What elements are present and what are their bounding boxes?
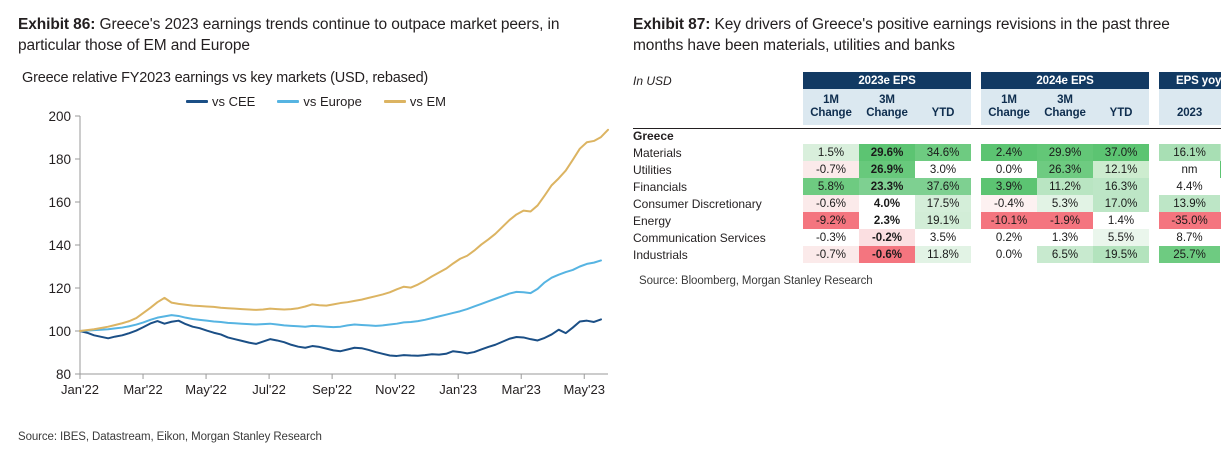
subheader-2-3: Change	[981, 107, 1037, 125]
subheader-1-4: 3M	[1037, 89, 1093, 107]
table-row[interactable]: Financials5.8%23.3%37.6%3.9%11.2%16.3%4.…	[633, 178, 1221, 195]
subheader-1-2	[915, 89, 971, 107]
exhibit-86-source: Source: IBES, Datastream, Eikon, Morgan …	[18, 431, 322, 443]
svg-text:Jan'22: Jan'22	[61, 382, 99, 397]
cell-r5-c6: 8.7%	[1159, 229, 1220, 246]
row-label-energy: Energy	[633, 212, 803, 229]
exhibit-86-panel: Exhibit 86: Greece's 2023 earnings trend…	[0, 0, 625, 461]
cell-r4-c6: -35.0%	[1159, 212, 1220, 229]
subheader-2-6: 2023	[1159, 107, 1220, 125]
legend-label: vs EM	[410, 94, 446, 109]
group-row-blank	[971, 128, 981, 144]
subheader-1-1: 3M	[859, 89, 915, 107]
cell-r6-c2: 11.8%	[915, 246, 971, 263]
subheader-1-5	[1093, 89, 1149, 107]
subheader-1-6	[1159, 89, 1220, 107]
svg-text:Mar'22: Mar'22	[123, 382, 162, 397]
cell-r6-c4: 6.5%	[1037, 246, 1093, 263]
cell-r6-c3: 0.0%	[981, 246, 1037, 263]
svg-text:May'23: May'23	[563, 382, 605, 397]
legend-swatch-icon	[186, 100, 208, 103]
legend-item-vs-em[interactable]: vs EM	[384, 94, 446, 109]
group-name-greece: Greece	[633, 128, 803, 144]
row-gap	[1149, 229, 1159, 246]
group-row-blank	[859, 128, 915, 144]
legend-item-vs-europe[interactable]: vs Europe	[277, 94, 362, 109]
subheader-2-1: Change	[859, 107, 915, 125]
table-group-name-row: Greece	[633, 128, 1221, 144]
eps-table-area: In USD2023e EPS2024e EPSEPS yoy Growth1M…	[633, 72, 1211, 263]
row-gap	[971, 144, 981, 161]
cell-r2-c5: 16.3%	[1093, 178, 1149, 195]
eps-table: In USD2023e EPS2024e EPSEPS yoy Growth1M…	[633, 72, 1221, 263]
cell-r1-c3: 0.0%	[981, 161, 1037, 178]
svg-text:120: 120	[48, 281, 71, 296]
cell-r1-c4: 26.3%	[1037, 161, 1093, 178]
cell-r3-c4: 5.3%	[1037, 195, 1093, 212]
cell-r4-c1: 2.3%	[859, 212, 915, 229]
row-gap	[971, 229, 981, 246]
cell-r6-c1: -0.6%	[859, 246, 915, 263]
cell-r4-c3: -10.1%	[981, 212, 1037, 229]
svg-text:May'22: May'22	[185, 382, 227, 397]
svg-text:100: 100	[48, 324, 71, 339]
cell-r0-c0: 1.5%	[803, 144, 859, 161]
line-chart: 80100120140160180200Jan'22Mar'22May'22Ju…	[18, 88, 618, 408]
subheader-2-4: Change	[1037, 107, 1093, 125]
exhibit-86-title: Exhibit 86: Greece's 2023 earnings trend…	[18, 14, 603, 56]
row-gap	[971, 161, 981, 178]
legend-swatch-icon	[384, 100, 406, 103]
cell-r0-c4: 29.9%	[1037, 144, 1093, 161]
subheader-2-5: YTD	[1093, 107, 1149, 125]
cell-r0-c6: 16.1%	[1159, 144, 1220, 161]
cell-r6-c5: 19.5%	[1093, 246, 1149, 263]
cell-r6-c6: 25.7%	[1159, 246, 1220, 263]
row-label-financials: Financials	[633, 178, 803, 195]
legend-label: vs Europe	[303, 94, 362, 109]
cell-r2-c4: 11.2%	[1037, 178, 1093, 195]
exhibit-87-source: Source: Bloomberg, Morgan Stanley Resear…	[639, 275, 1211, 287]
cell-r4-c2: 19.1%	[915, 212, 971, 229]
cell-r5-c2: 3.5%	[915, 229, 971, 246]
legend-item-vs-cee[interactable]: vs CEE	[186, 94, 255, 109]
cell-r6-c0: -0.7%	[803, 246, 859, 263]
cell-r1-c2: 3.0%	[915, 161, 971, 178]
chart-svg: 80100120140160180200Jan'22Mar'22May'22Ju…	[18, 88, 618, 408]
svg-text:80: 80	[56, 367, 71, 382]
table-row[interactable]: Communication Services-0.3%-0.2%3.5%0.2%…	[633, 229, 1221, 246]
table-row[interactable]: Industrials-0.7%-0.6%11.8%0.0%6.5%19.5%2…	[633, 246, 1221, 263]
cell-r2-c1: 23.3%	[859, 178, 915, 195]
row-gap	[1149, 161, 1159, 178]
exhibit-87-panel: Exhibit 87: Key drivers of Greece's posi…	[625, 0, 1221, 461]
cell-r3-c6: 13.9%	[1159, 195, 1220, 212]
svg-text:Sep'22: Sep'22	[312, 382, 352, 397]
cell-r5-c1: -0.2%	[859, 229, 915, 246]
group-header-eps-yoy-growth: EPS yoy Growth	[1159, 72, 1221, 89]
row-gap	[1149, 195, 1159, 212]
group-header-2024e-eps: 2024e EPS	[981, 72, 1149, 89]
svg-text:Jul'22: Jul'22	[252, 382, 286, 397]
group-row-blank	[803, 128, 859, 144]
table-row[interactable]: Utilities-0.7%26.9%3.0%0.0%26.3%12.1%nm6…	[633, 161, 1221, 178]
table-row[interactable]: Energy-9.2%2.3%19.1%-10.1%-1.9%1.4%-35.0…	[633, 212, 1221, 229]
group-row-blank	[1037, 128, 1093, 144]
exhibit-87-title-text: Key drivers of Greece's positive earning…	[633, 16, 1170, 54]
cell-r1-c1: 26.9%	[859, 161, 915, 178]
svg-text:180: 180	[48, 152, 71, 167]
table-corner-label: In USD	[633, 72, 803, 89]
cell-r1-c6: nm	[1159, 161, 1220, 178]
cell-r5-c3: 0.2%	[981, 229, 1037, 246]
table-gap-1c	[971, 107, 981, 125]
legend-label: vs CEE	[212, 94, 255, 109]
exhibit-87-label: Exhibit 87:	[633, 16, 710, 33]
exhibit-86-title-text: Greece's 2023 earnings trends continue t…	[18, 16, 559, 54]
cell-r4-c4: -1.9%	[1037, 212, 1093, 229]
row-label-communication-services: Communication Services	[633, 229, 803, 246]
cell-r5-c0: -0.3%	[803, 229, 859, 246]
cell-r3-c3: -0.4%	[981, 195, 1037, 212]
cell-r5-c4: 1.3%	[1037, 229, 1093, 246]
svg-text:160: 160	[48, 195, 71, 210]
cell-r0-c1: 29.6%	[859, 144, 915, 161]
cell-r2-c0: 5.8%	[803, 178, 859, 195]
group-row-blank	[915, 128, 971, 144]
chart-legend: vs CEEvs Europevs EM	[186, 94, 446, 109]
cell-r5-c5: 5.5%	[1093, 229, 1149, 246]
cell-r2-c6: 4.4%	[1159, 178, 1220, 195]
cell-r0-c3: 2.4%	[981, 144, 1037, 161]
svg-text:Nov'22: Nov'22	[375, 382, 415, 397]
row-label-industrials: Industrials	[633, 246, 803, 263]
row-label-utilities: Utilities	[633, 161, 803, 178]
cell-r2-c2: 37.6%	[915, 178, 971, 195]
subheader-1-0: 1M	[803, 89, 859, 107]
table-row[interactable]: Consumer Discretionary-0.6%4.0%17.5%-0.4…	[633, 195, 1221, 212]
svg-text:Jan'23: Jan'23	[439, 382, 477, 397]
row-gap	[971, 246, 981, 263]
row-gap	[971, 195, 981, 212]
table-subheader-row-2: ChangeChangeYTDChangeChangeYTD20232024	[633, 107, 1221, 125]
table-corner-blank	[633, 89, 803, 107]
cell-r0-c5: 37.0%	[1093, 144, 1149, 161]
cell-r1-c5: 12.1%	[1093, 161, 1149, 178]
row-label-consumer-discretionary: Consumer Discretionary	[633, 195, 803, 212]
group-row-blank	[1149, 128, 1159, 144]
row-label-materials: Materials	[633, 144, 803, 161]
row-gap	[1149, 178, 1159, 195]
row-gap	[1149, 144, 1159, 161]
row-gap	[971, 212, 981, 229]
cell-r4-c0: -9.2%	[803, 212, 859, 229]
cell-r0-c2: 34.6%	[915, 144, 971, 161]
cell-r1-c0: -0.7%	[803, 161, 859, 178]
legend-swatch-icon	[277, 100, 299, 103]
cell-r3-c2: 17.5%	[915, 195, 971, 212]
svg-text:200: 200	[48, 109, 71, 124]
exhibit-87-title: Exhibit 87: Key drivers of Greece's posi…	[633, 14, 1211, 56]
chart-subtitle: Greece relative FY2023 earnings vs key m…	[22, 70, 613, 86]
table-gap-2	[1149, 72, 1159, 89]
table-gap-1	[971, 72, 981, 89]
table-subheader-row-1: 1M3M1M3M	[633, 89, 1221, 107]
svg-text:140: 140	[48, 238, 71, 253]
row-gap	[1149, 246, 1159, 263]
group-row-blank	[1093, 128, 1149, 144]
cell-r3-c0: -0.6%	[803, 195, 859, 212]
table-gap-1b	[971, 89, 981, 107]
group-header-2023e-eps: 2023e EPS	[803, 72, 971, 89]
subheader-1-3: 1M	[981, 89, 1037, 107]
exhibit-86-label: Exhibit 86:	[18, 16, 95, 33]
table-gap-2b	[1149, 89, 1159, 107]
subheader-2-0: Change	[803, 107, 859, 125]
group-row-blank	[1159, 128, 1220, 144]
row-gap	[1149, 212, 1159, 229]
cell-r4-c5: 1.4%	[1093, 212, 1149, 229]
exhibit-page: Exhibit 86: Greece's 2023 earnings trend…	[0, 0, 1221, 461]
row-gap	[971, 178, 981, 195]
table-corner-blank-2	[633, 107, 803, 125]
table-gap-2c	[1149, 107, 1159, 125]
table-group-header-row: In USD2023e EPS2024e EPSEPS yoy Growth	[633, 72, 1221, 89]
subheader-2-2: YTD	[915, 107, 971, 125]
group-row-blank	[981, 128, 1037, 144]
cell-r3-c5: 17.0%	[1093, 195, 1149, 212]
cell-r3-c1: 4.0%	[859, 195, 915, 212]
table-row[interactable]: Materials1.5%29.6%34.6%2.4%29.9%37.0%16.…	[633, 144, 1221, 161]
cell-r2-c3: 3.9%	[981, 178, 1037, 195]
svg-text:Mar'23: Mar'23	[502, 382, 541, 397]
